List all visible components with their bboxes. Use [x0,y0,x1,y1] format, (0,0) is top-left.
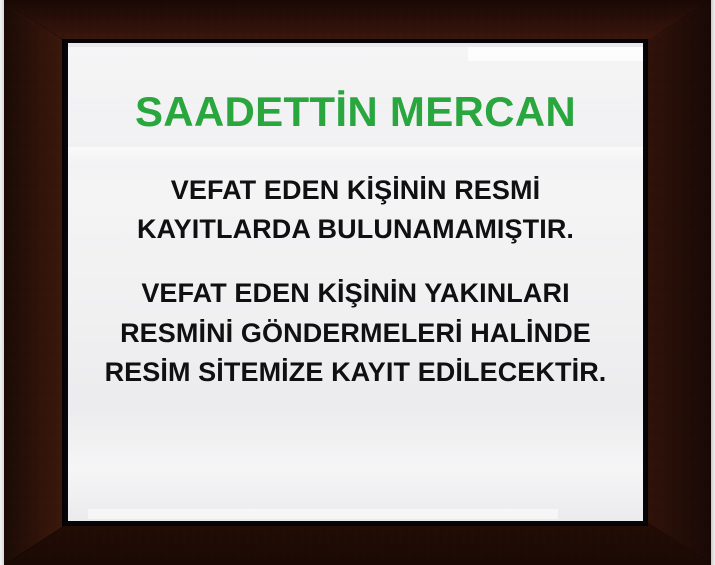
memorial-content: SAADETTİN MERCAN VEFAT EDEN KİŞİNİN RESM… [68,43,643,393]
frame-inner-black-liner: SAADETTİN MERCAN VEFAT EDEN KİŞİNİN RESM… [62,39,648,526]
notice-line: VEFAT EDEN KİŞİNİN RESMİ [78,171,633,210]
notice-submit-photo-request: VEFAT EDEN KİŞİNİN YAKINLARI RESMİNİ GÖN… [68,274,643,393]
notice-line: KAYITLARDA BULUNAMAMIŞTIR. [78,210,633,249]
card-highlight-band-lower [68,401,643,521]
memorial-card: SAADETTİN MERCAN VEFAT EDEN KİŞİNİN RESM… [68,43,643,521]
deceased-name: SAADETTİN MERCAN [68,43,643,133]
notice-line: RESMİNİ GÖNDERMELERİ HALİNDE [78,314,633,354]
notice-line: VEFAT EDEN KİŞİNİN YAKINLARI [78,274,633,314]
notice-line: RESİM SİTEMİZE KAYIT EDİLECEKTİR. [78,353,633,393]
notice-no-photo-on-record: VEFAT EDEN KİŞİNİN RESMİ KAYITLARDA BULU… [68,171,643,250]
memorial-plaque: SAADETTİN MERCAN VEFAT EDEN KİŞİNİN RESM… [0,0,715,565]
card-highlight-band-foot [88,509,558,519]
